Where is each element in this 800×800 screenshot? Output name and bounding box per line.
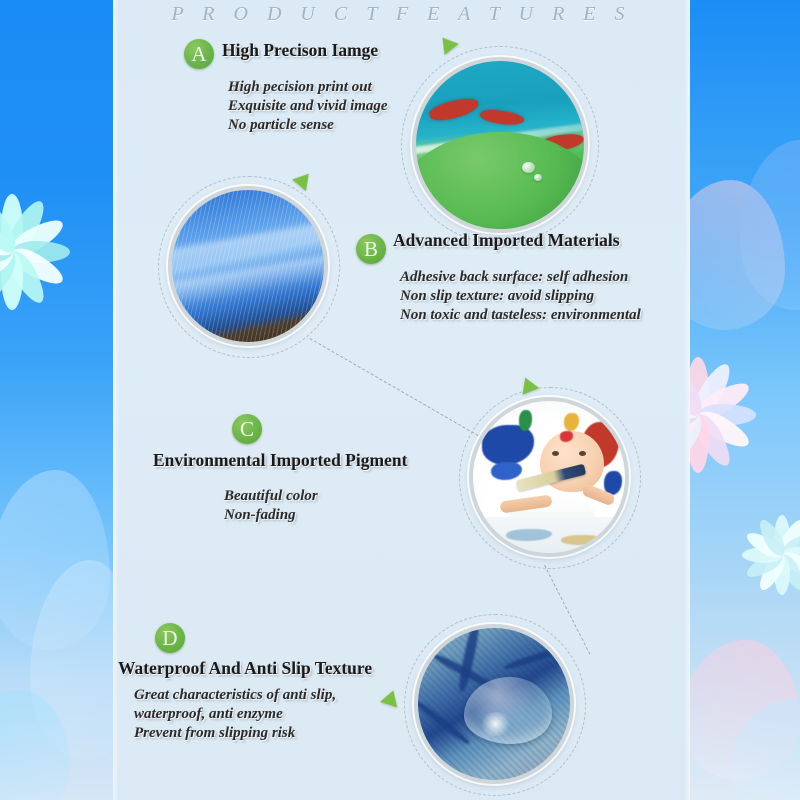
feature-image-a: [412, 57, 588, 233]
feature-line: Non toxic and tasteless: environmental: [400, 306, 641, 325]
feature-body-a: High pecision print out Exquisite and vi…: [228, 78, 388, 135]
left-decorative-border: [0, 0, 113, 800]
right-decorative-border: [690, 0, 800, 800]
feature-line: Non-fading: [224, 506, 318, 525]
feature-line: High pecision print out: [228, 78, 388, 97]
feature-title-a: High Precison Iamge: [222, 40, 378, 61]
feature-title-c: Environmental Imported Pigment: [153, 450, 407, 471]
page-title: P R O D U C T F E A T U R E S: [113, 3, 690, 26]
feature-body-d: Great characteristics of anti slip, wate…: [134, 686, 336, 743]
main-panel: [113, 0, 690, 800]
feature-line: Prevent from slipping risk: [134, 724, 336, 743]
feature-line: No particle sense: [228, 116, 388, 135]
feature-image-d: [414, 624, 574, 784]
feature-title-b: Advanced Imported Materials: [393, 230, 620, 251]
panel-edge-left: [113, 0, 119, 800]
feature-line: Great characteristics of anti slip,: [134, 686, 336, 705]
feature-image-b: [168, 186, 328, 346]
feature-line: Beautiful color: [224, 487, 318, 506]
badge-c: C: [232, 414, 262, 444]
badge-b: B: [356, 234, 386, 264]
feature-line: Non slip texture: avoid slipping: [400, 287, 641, 306]
panel-edge-right: [684, 0, 690, 800]
product-features-infographic: P R O D U C T F E A T U R E S A High Pre…: [0, 0, 800, 800]
badge-d: D: [155, 623, 185, 653]
feature-body-b: Adhesive back surface: self adhesion Non…: [400, 268, 641, 325]
feature-line: waterproof, anti enzyme: [134, 705, 336, 724]
feature-line: Adhesive back surface: self adhesion: [400, 268, 641, 287]
feature-image-c: [469, 397, 629, 557]
feature-body-c: Beautiful color Non-fading: [224, 487, 318, 525]
feature-line: Exquisite and vivid image: [228, 97, 388, 116]
badge-a: A: [184, 39, 214, 69]
feature-title-d: Waterproof And Anti Slip Texture: [118, 658, 372, 679]
